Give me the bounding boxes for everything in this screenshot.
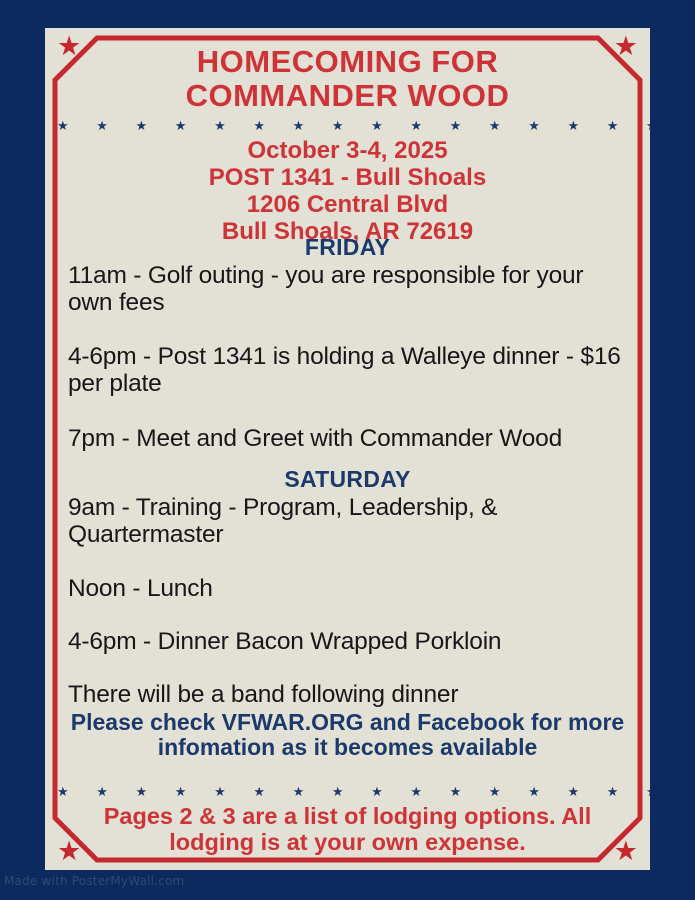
poster-title-line-2: COMMANDER WOOD [45,80,650,111]
saturday-item-2: Noon - Lunch [68,575,634,602]
saturday-item-3: 4-6pm - Dinner Bacon Wrapped Porkloin [68,628,634,655]
poster-title-line-1: HOMECOMING FOR [197,44,499,79]
event-date: October 3-4, 2025 [45,139,650,163]
website-notice: Please check VFWAR.ORG and Facebook for … [68,710,627,760]
poster-content: HOMECOMING FOR COMMANDER WOOD ★ ★ ★ ★ ★ … [45,28,650,870]
saturday-heading: SATURDAY [45,468,650,491]
lodging-footer: Pages 2 & 3 are a list of lodging option… [63,804,632,856]
friday-item-2: 4-6pm - Post 1341 is holding a Walleye d… [68,343,634,398]
star-divider-bottom: ★ ★ ★ ★ ★ ★ ★ ★ ★ ★ ★ ★ ★ ★ ★ ★ ★ ★ ★ ★ … [45,785,650,798]
friday-heading: FRIDAY [45,236,650,259]
poster-title: HOMECOMING FOR COMMANDER WOOD [45,46,650,111]
postermywall-watermark: Made with PosterMyWall.com [4,874,184,888]
friday-item-3: 7pm - Meet and Greet with Commander Wood [68,425,634,452]
event-details: October 3-4, 2025 POST 1341 - Bull Shoal… [45,139,650,247]
event-street: 1206 Central Blvd [45,193,650,217]
event-post: POST 1341 - Bull Shoals [45,166,650,190]
saturday-item-1: 9am - Training - Program, Leadership, & … [68,494,634,549]
friday-item-1: 11am - Golf outing - you are responsible… [68,262,634,317]
poster-panel: ★ ★ ★ ★ HOMECOMING FOR COMMANDER WOOD ★ … [45,28,650,870]
saturday-item-4: There will be a band following dinner [68,681,634,708]
star-divider-top: ★ ★ ★ ★ ★ ★ ★ ★ ★ ★ ★ ★ ★ ★ ★ ★ ★ ★ ★ ★ … [45,119,650,132]
